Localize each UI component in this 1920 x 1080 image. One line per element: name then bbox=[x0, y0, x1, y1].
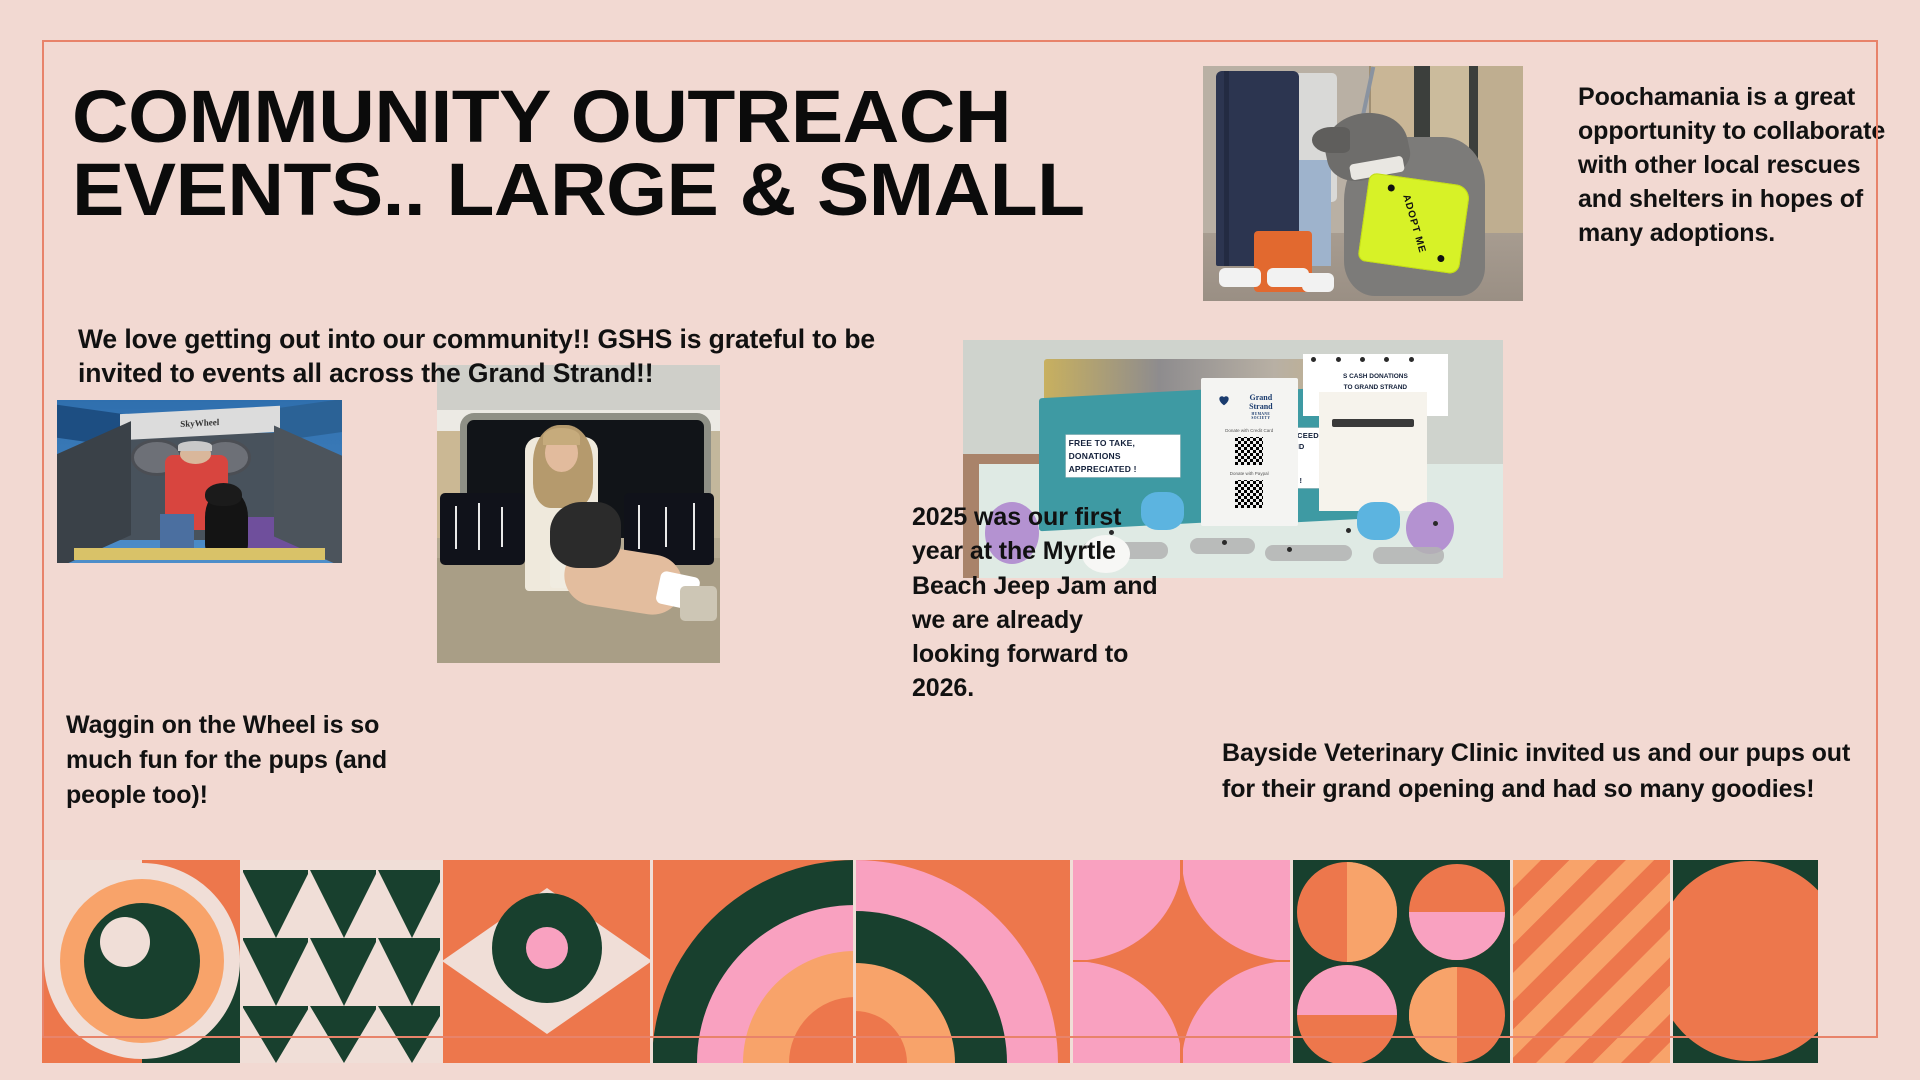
skywheel-sign-text: SkyWheel bbox=[180, 417, 219, 429]
subtitle-text: We love getting out into our community!!… bbox=[78, 322, 958, 391]
jeep-jam-photo bbox=[437, 365, 720, 663]
waggin-caption: Waggin on the Wheel is so much fun for t… bbox=[66, 708, 416, 813]
heart-logo-icon bbox=[1216, 393, 1232, 407]
adopt-me-vest-text: ADOPT ME bbox=[1401, 193, 1428, 254]
adopt-me-vest: ADOPT ME bbox=[1357, 172, 1471, 275]
decorative-pattern-strip bbox=[42, 860, 1818, 1063]
frame-bottom-rule bbox=[42, 1036, 1818, 1038]
sign-free-to-take: FREE TO TAKE, DONATIONS APPRECIATED ! bbox=[1066, 435, 1180, 477]
bayside-caption: Bayside Veterinary Clinic invited us and… bbox=[1222, 736, 1852, 807]
poochamania-caption: Poochamania is a great opportunity to co… bbox=[1578, 80, 1893, 250]
poster-canvas: COMMUNITY OUTREACH EVENTS.. LARGE & SMAL… bbox=[0, 0, 1920, 1080]
donate-qr-card: Grand Strand HUMANE SOCIETY Donate with … bbox=[1201, 378, 1298, 526]
skywheel-waggin-photo: SkyWheel bbox=[57, 400, 342, 563]
jeepjam-caption: 2025 was our first year at the Myrtle Be… bbox=[912, 500, 1162, 706]
page-title: COMMUNITY OUTREACH EVENTS.. LARGE & SMAL… bbox=[72, 80, 1259, 227]
